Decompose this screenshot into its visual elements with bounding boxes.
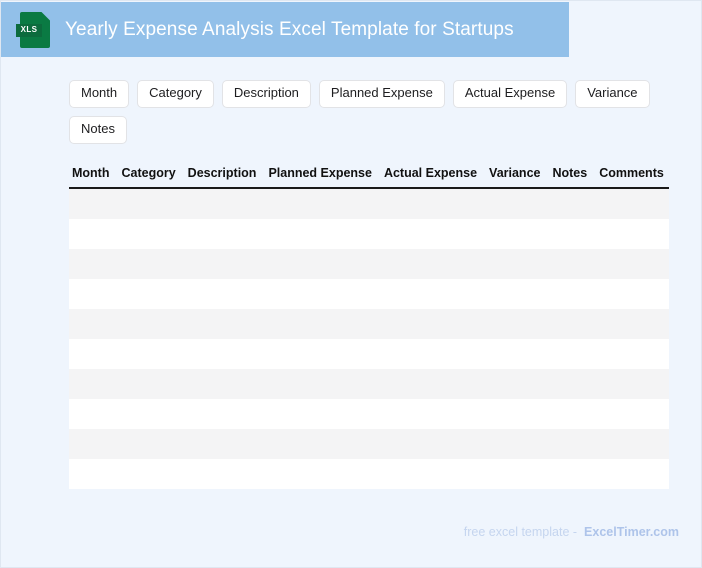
table-cell[interactable] <box>381 188 486 219</box>
table-cell[interactable] <box>185 188 266 219</box>
column-tag-list: Month Category Description Planned Expen… <box>69 80 669 144</box>
footer-brand[interactable]: ExcelTimer.com <box>584 525 679 539</box>
table-cell[interactable] <box>265 219 381 249</box>
table-cell[interactable] <box>596 219 669 249</box>
table-cell[interactable] <box>549 188 596 219</box>
table-row[interactable] <box>69 429 669 459</box>
table-cell[interactable] <box>118 279 184 309</box>
table-cell[interactable] <box>265 459 381 489</box>
table-cell[interactable] <box>381 339 486 369</box>
table-cell[interactable] <box>486 339 549 369</box>
table-cell[interactable] <box>69 429 118 459</box>
table-cell[interactable] <box>185 219 266 249</box>
table-cell[interactable] <box>381 459 486 489</box>
table-row[interactable] <box>69 279 669 309</box>
table-cell[interactable] <box>596 399 669 429</box>
table-cell[interactable] <box>265 309 381 339</box>
page-root: XLS Yearly Expense Analysis Excel Templa… <box>1 1 701 567</box>
table-cell[interactable] <box>265 399 381 429</box>
column-header-month[interactable]: Month <box>69 164 118 188</box>
table-cell[interactable] <box>185 429 266 459</box>
table-cell[interactable] <box>486 219 549 249</box>
table-cell[interactable] <box>549 459 596 489</box>
table-cell[interactable] <box>69 188 118 219</box>
table-cell[interactable] <box>69 309 118 339</box>
table-cell[interactable] <box>486 188 549 219</box>
tag-month[interactable]: Month <box>69 80 129 108</box>
table-cell[interactable] <box>596 459 669 489</box>
table-cell[interactable] <box>486 459 549 489</box>
table-row[interactable] <box>69 339 669 369</box>
table-cell[interactable] <box>265 279 381 309</box>
table-cell[interactable] <box>549 339 596 369</box>
table-cell[interactable] <box>69 399 118 429</box>
table-cell[interactable] <box>596 279 669 309</box>
template-table: Month Category Description Planned Expen… <box>69 164 669 489</box>
table-cell[interactable] <box>185 249 266 279</box>
table-cell[interactable] <box>486 249 549 279</box>
tag-variance[interactable]: Variance <box>575 80 649 108</box>
table-cell[interactable] <box>265 188 381 219</box>
table-row[interactable] <box>69 188 669 219</box>
table-cell[interactable] <box>486 399 549 429</box>
table-cell[interactable] <box>549 309 596 339</box>
table-body <box>69 188 669 489</box>
table-cell[interactable] <box>486 309 549 339</box>
table-cell[interactable] <box>118 429 184 459</box>
table-cell[interactable] <box>69 459 118 489</box>
table-cell[interactable] <box>265 429 381 459</box>
table-cell[interactable] <box>265 249 381 279</box>
table-cell[interactable] <box>185 339 266 369</box>
table-cell[interactable] <box>596 188 669 219</box>
column-header-comments[interactable]: Comments <box>596 164 669 188</box>
table-cell[interactable] <box>69 249 118 279</box>
table-cell[interactable] <box>381 219 486 249</box>
table-row[interactable] <box>69 249 669 279</box>
table-cell[interactable] <box>185 369 266 399</box>
template-table-container: Month Category Description Planned Expen… <box>69 164 669 494</box>
table-cell[interactable] <box>185 399 266 429</box>
table-cell[interactable] <box>596 309 669 339</box>
table-cell[interactable] <box>381 429 486 459</box>
table-cell[interactable] <box>596 369 669 399</box>
table-cell[interactable] <box>486 429 549 459</box>
column-header-description[interactable]: Description <box>185 164 266 188</box>
table-row[interactable] <box>69 399 669 429</box>
table-cell[interactable] <box>381 309 486 339</box>
table-cell[interactable] <box>549 249 596 279</box>
table-cell[interactable] <box>596 339 669 369</box>
table-cell[interactable] <box>69 279 118 309</box>
table-row[interactable] <box>69 369 669 399</box>
table-cell[interactable] <box>486 369 549 399</box>
table-cell[interactable] <box>118 249 184 279</box>
table-cell[interactable] <box>596 249 669 279</box>
column-header-variance[interactable]: Variance <box>486 164 549 188</box>
column-header-category[interactable]: Category <box>118 164 184 188</box>
table-row[interactable] <box>69 459 669 489</box>
table-cell[interactable] <box>381 369 486 399</box>
footer: free excel template - ExcelTimer.com <box>464 525 679 539</box>
table-header-row: Month Category Description Planned Expen… <box>69 164 669 188</box>
table-cell[interactable] <box>549 429 596 459</box>
table-cell[interactable] <box>118 399 184 429</box>
tag-category[interactable]: Category <box>137 80 214 108</box>
table-row[interactable] <box>69 309 669 339</box>
column-header-notes[interactable]: Notes <box>549 164 596 188</box>
tag-planned-expense[interactable]: Planned Expense <box>319 80 445 108</box>
tag-description[interactable]: Description <box>222 80 311 108</box>
table-cell[interactable] <box>118 369 184 399</box>
table-cell[interactable] <box>118 219 184 249</box>
table-cell[interactable] <box>118 188 184 219</box>
column-header-actual-expense[interactable]: Actual Expense <box>381 164 486 188</box>
table-cell[interactable] <box>118 459 184 489</box>
table-cell[interactable] <box>69 369 118 399</box>
table-header: Month Category Description Planned Expen… <box>69 164 669 188</box>
page-title: Yearly Expense Analysis Excel Template f… <box>65 19 514 41</box>
table-cell[interactable] <box>381 249 486 279</box>
table-cell[interactable] <box>118 309 184 339</box>
table-cell[interactable] <box>69 219 118 249</box>
table-cell[interactable] <box>596 429 669 459</box>
table-cell[interactable] <box>118 339 184 369</box>
footer-label: free excel template - <box>464 525 577 539</box>
xls-file-icon: XLS <box>20 12 50 48</box>
table-cell[interactable] <box>381 399 486 429</box>
table-cell[interactable] <box>549 399 596 429</box>
table-cell[interactable] <box>265 339 381 369</box>
table-cell[interactable] <box>381 279 486 309</box>
file-icon-format-label: XLS <box>16 24 42 37</box>
table-cell[interactable] <box>486 279 549 309</box>
table-row[interactable] <box>69 219 669 249</box>
table-cell[interactable] <box>69 339 118 369</box>
table-cell[interactable] <box>185 279 266 309</box>
table-cell[interactable] <box>185 459 266 489</box>
table-cell[interactable] <box>549 279 596 309</box>
table-cell[interactable] <box>549 369 596 399</box>
table-cell[interactable] <box>185 309 266 339</box>
table-cell[interactable] <box>265 369 381 399</box>
column-header-planned-expense[interactable]: Planned Expense <box>265 164 381 188</box>
header-banner: XLS Yearly Expense Analysis Excel Templa… <box>1 2 569 57</box>
table-cell[interactable] <box>549 219 596 249</box>
tag-actual-expense[interactable]: Actual Expense <box>453 80 567 108</box>
tag-notes[interactable]: Notes <box>69 116 127 144</box>
